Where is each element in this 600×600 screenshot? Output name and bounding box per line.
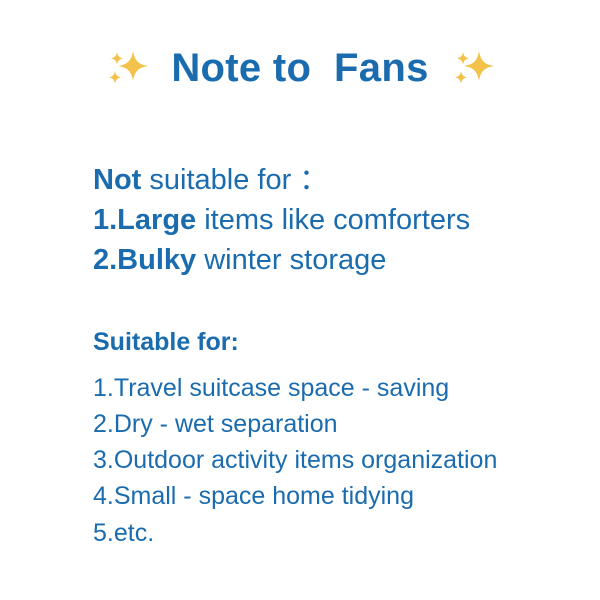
not-suitable-item: 2.Bulky winter storage [93,240,573,280]
sparkles-icon [449,44,497,92]
suitable-item: 4.Small - space home tidying [93,478,583,514]
not-suitable-item-bold: 2.Bulky [93,244,196,276]
not-suitable-item: 1.Large items like comforters [93,200,573,240]
suitable-item: 5.etc. [93,515,583,551]
suitable-section: Suitable for: 1.Travel suitcase space - … [93,325,583,551]
not-suitable-item-rest: winter storage [196,244,386,276]
sparkles-icon [103,44,151,92]
page-title-row: Note to Fans [0,44,600,92]
not-suitable-item-bold: 1.Large [93,204,196,236]
not-suitable-heading-bold: Not [93,164,141,196]
suitable-item: 2.Dry - wet separation [93,406,583,442]
not-suitable-section: Not suitable for ： 1.Large items like co… [93,160,573,280]
suitable-item: 1.Travel suitcase space - saving [93,370,583,406]
not-suitable-heading: Not suitable for ： [93,160,573,200]
page-title: Note to Fans [171,48,428,88]
suitable-heading: Suitable for: [93,325,583,361]
not-suitable-item-rest: items like comforters [196,204,470,236]
note-to-fans-card: Note to Fans Not suitable for ： 1.Large … [0,0,600,600]
not-suitable-heading-rest: suitable for ： [141,164,328,196]
suitable-item: 3.Outdoor activity items organization [93,442,583,478]
